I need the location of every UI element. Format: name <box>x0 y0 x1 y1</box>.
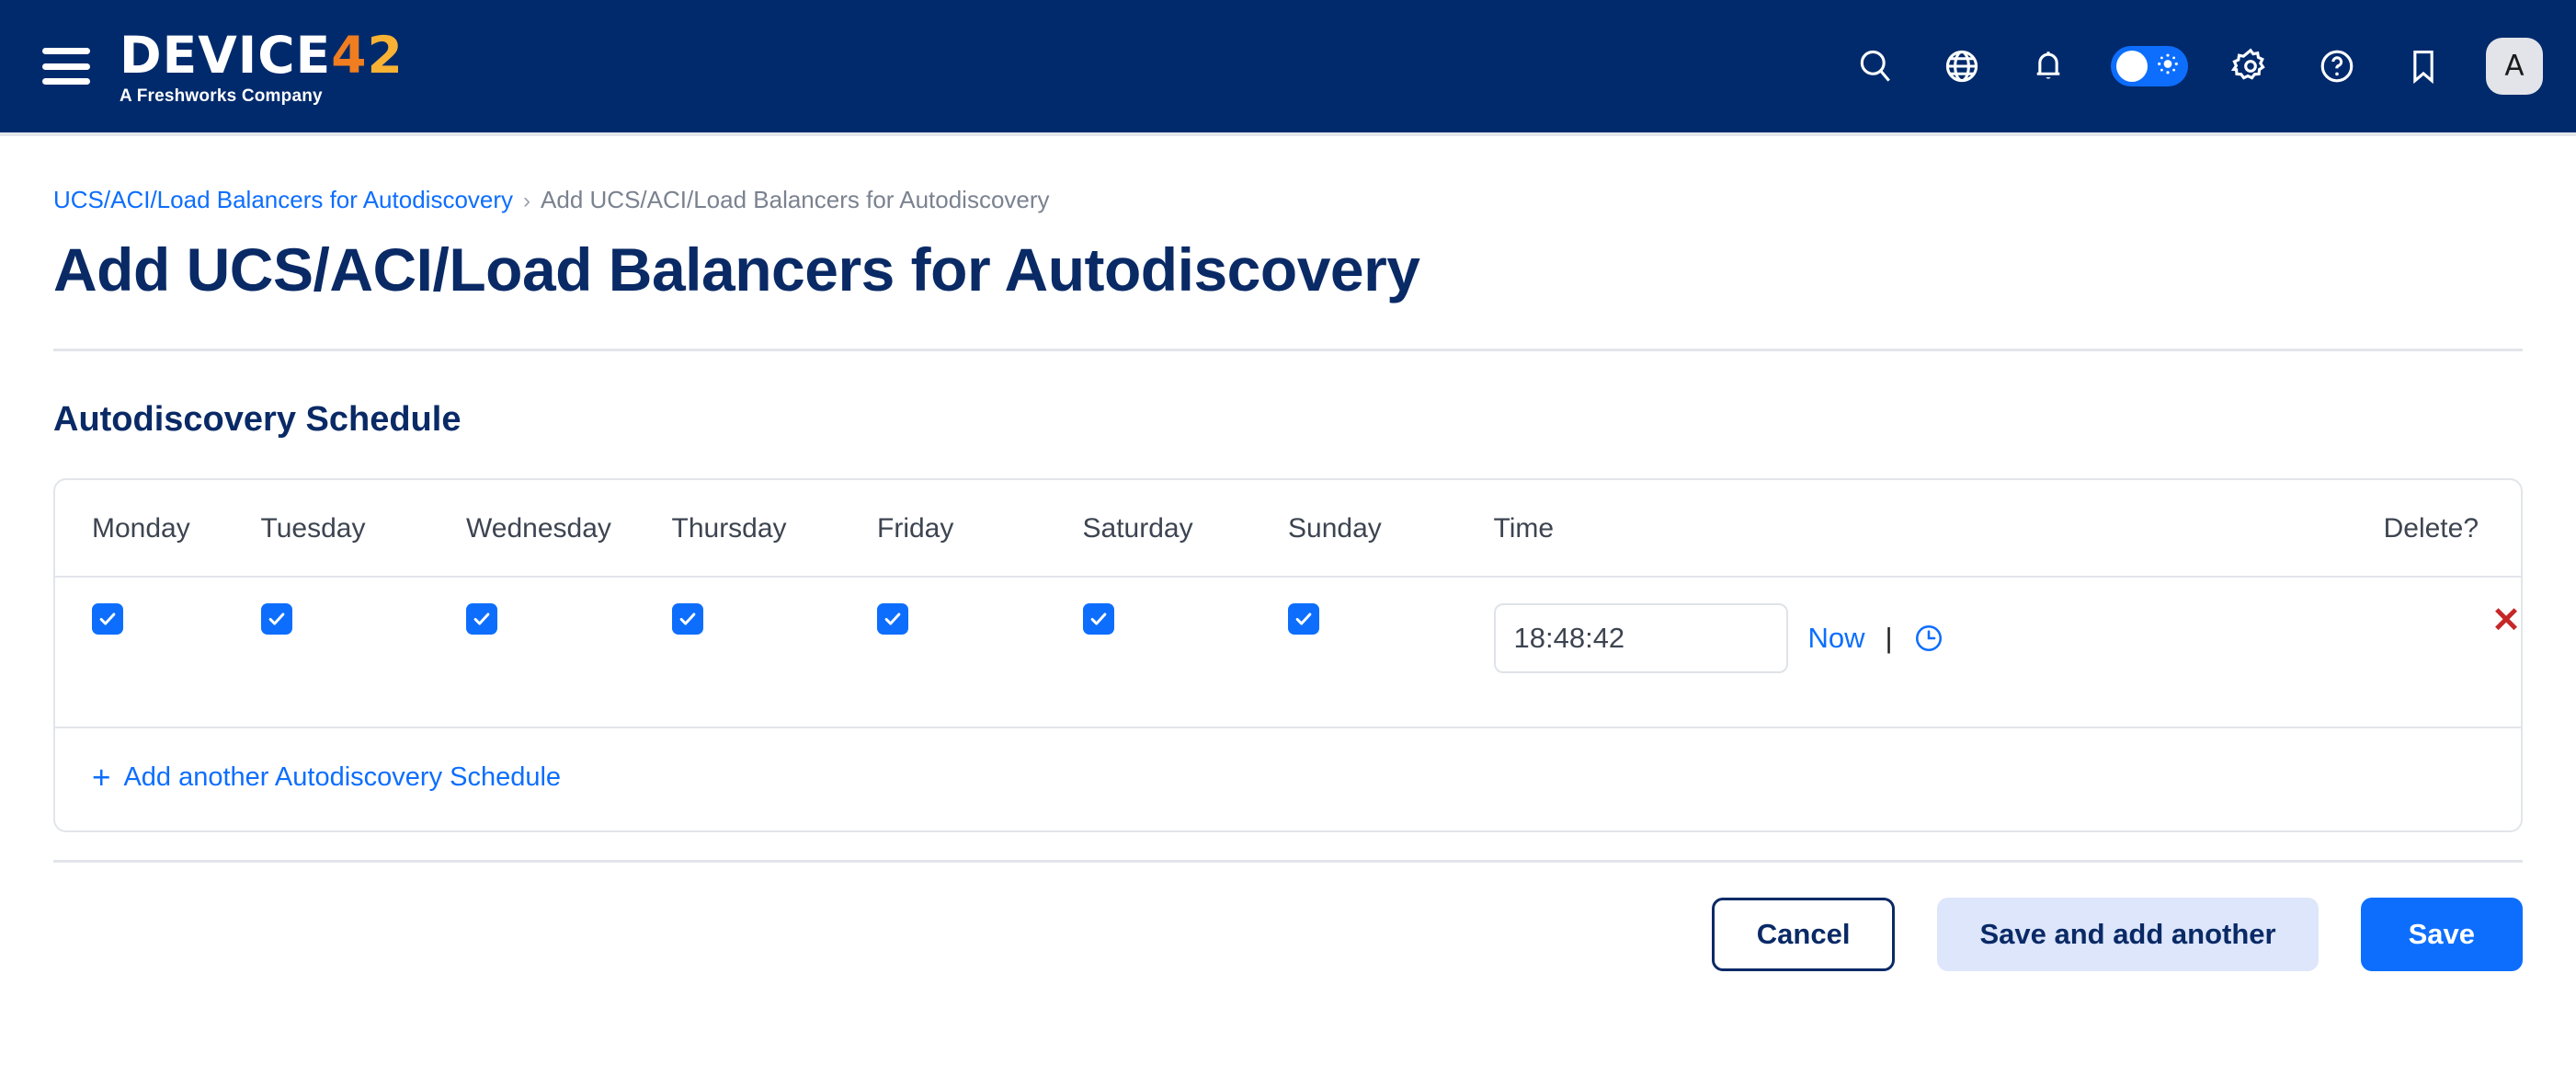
top-nav-actions: A <box>1852 38 2543 95</box>
search-icon[interactable] <box>1852 42 1899 90</box>
cell-saturday <box>1083 577 1289 727</box>
column-header-saturday: Saturday <box>1083 480 1289 577</box>
checkbox-monday[interactable] <box>92 603 123 635</box>
cell-wednesday <box>466 577 672 727</box>
top-navigation-bar: DEVICE 4 2 A Freshworks Company <box>0 0 2576 136</box>
bookmark-icon[interactable] <box>2399 42 2447 90</box>
add-another-schedule-link[interactable]: + Add another Autodiscovery Schedule <box>92 762 561 794</box>
cell-monday <box>55 577 261 727</box>
cell-thursday <box>672 577 878 727</box>
globe-icon[interactable] <box>1938 42 1986 90</box>
checkbox-friday[interactable] <box>877 603 908 635</box>
column-header-sunday: Sunday <box>1288 480 1494 577</box>
plus-icon: + <box>92 762 110 794</box>
checkbox-tuesday[interactable] <box>261 603 292 635</box>
table-row: Now | ✕ <box>55 577 2521 727</box>
checkbox-sunday[interactable] <box>1288 603 1319 635</box>
breadcrumb-parent-link[interactable]: UCS/ACI/Load Balancers for Autodiscovery <box>53 186 513 214</box>
checkbox-saturday[interactable] <box>1083 603 1114 635</box>
gear-icon[interactable] <box>2227 42 2274 90</box>
logo-text: DEVICE <box>120 26 331 85</box>
save-and-add-another-button[interactable]: Save and add another <box>1937 898 2318 971</box>
cell-time: Now | <box>1494 577 2225 727</box>
page-content: UCS/ACI/Load Balancers for Autodiscovery… <box>0 136 2576 971</box>
time-field-group: Now | <box>1494 603 2225 673</box>
column-header-monday: Monday <box>55 480 261 577</box>
hamburger-bar <box>42 78 90 85</box>
column-header-friday: Friday <box>877 480 1083 577</box>
separator-pipe: | <box>1886 622 1893 655</box>
avatar[interactable]: A <box>2486 38 2543 95</box>
toggle-knob <box>2116 51 2148 82</box>
sun-icon <box>2156 52 2180 81</box>
cell-sunday <box>1288 577 1494 727</box>
hamburger-bar <box>42 63 90 70</box>
theme-toggle[interactable] <box>2111 46 2188 86</box>
schedule-table-head: Monday Tuesday Wednesday Thursday Friday… <box>55 480 2521 577</box>
now-link[interactable]: Now <box>1808 622 1865 655</box>
help-icon[interactable] <box>2313 42 2361 90</box>
form-actions: Cancel Save and add another Save <box>53 863 2523 971</box>
add-row-container: + Add another Autodiscovery Schedule <box>55 727 2521 830</box>
logo-digit-4: 4 <box>331 26 367 85</box>
add-another-schedule-label: Add another Autodiscovery Schedule <box>123 762 561 793</box>
column-header-delete: Delete? <box>2224 480 2521 577</box>
section-title: Autodiscovery Schedule <box>53 400 2523 440</box>
column-header-wednesday: Wednesday <box>466 480 672 577</box>
hamburger-bar <box>42 48 90 54</box>
column-header-tuesday: Tuesday <box>261 480 467 577</box>
clock-icon[interactable] <box>1913 623 1944 654</box>
device42-logo[interactable]: DEVICE 4 2 A Freshworks Company <box>120 26 404 107</box>
cell-friday <box>877 577 1083 727</box>
breadcrumb-current: Add UCS/ACI/Load Balancers for Autodisco… <box>541 186 1050 214</box>
breadcrumb-separator: › <box>523 189 530 214</box>
schedule-table-body: Now | ✕ <box>55 577 2521 830</box>
logo-tagline: A Freshworks Company <box>120 86 404 107</box>
delete-row-icon[interactable]: ✕ <box>2491 601 2521 640</box>
logo-digit-2: 2 <box>367 26 403 85</box>
logo-wordmark: DEVICE 4 2 <box>120 26 404 85</box>
table-header-row: Monday Tuesday Wednesday Thursday Friday… <box>55 480 2521 577</box>
page-title: Add UCS/ACI/Load Balancers for Autodisco… <box>53 235 2523 304</box>
title-divider <box>53 349 2523 351</box>
cell-delete: ✕ <box>2224 577 2521 727</box>
column-header-thursday: Thursday <box>672 480 878 577</box>
bell-icon[interactable] <box>2024 42 2072 90</box>
checkbox-thursday[interactable] <box>672 603 703 635</box>
cell-tuesday <box>261 577 467 727</box>
checkbox-wednesday[interactable] <box>466 603 497 635</box>
time-input[interactable] <box>1494 603 1788 673</box>
autodiscovery-schedule-card: Monday Tuesday Wednesday Thursday Friday… <box>53 478 2523 832</box>
add-row-cell: + Add another Autodiscovery Schedule <box>55 727 2521 830</box>
column-header-time: Time <box>1494 480 2225 577</box>
cancel-button[interactable]: Cancel <box>1712 898 1896 971</box>
breadcrumb: UCS/ACI/Load Balancers for Autodiscovery… <box>53 136 2523 214</box>
save-button[interactable]: Save <box>2361 898 2523 971</box>
add-row: + Add another Autodiscovery Schedule <box>55 728 2521 830</box>
hamburger-menu-icon[interactable] <box>42 48 90 85</box>
schedule-table: Monday Tuesday Wednesday Thursday Friday… <box>55 480 2521 830</box>
